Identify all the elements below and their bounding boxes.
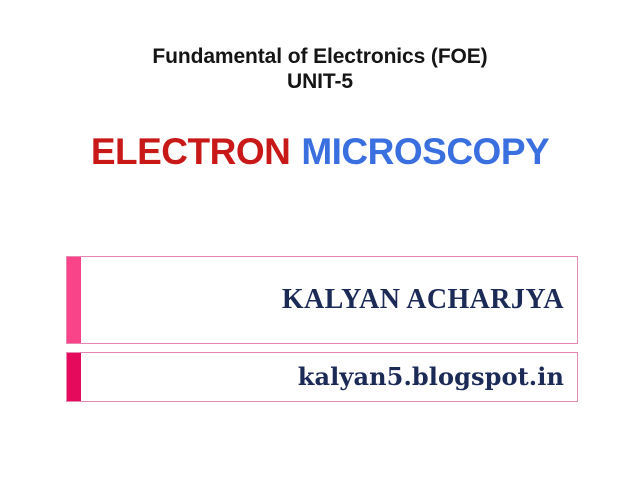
course-title-line-2: UNIT-5 [0, 69, 640, 94]
blog-panel-accent-bar [67, 353, 81, 401]
course-title: Fundamental of Electronics (FOE) UNIT-5 [0, 44, 640, 94]
presenter-name-panel: KALYAN ACHARJYA [66, 256, 578, 344]
presenter-panel-accent-bar [67, 257, 81, 343]
blog-url-text[interactable]: kalyan5.blogspot.in [298, 363, 564, 391]
page-title: ELECTRONMICROSCOPY [0, 131, 640, 173]
presenter-name-text: KALYAN ACHARJYA [282, 284, 564, 316]
presentation-slide: Fundamental of Electronics (FOE) UNIT-5 … [0, 0, 640, 480]
presenter-panel-body: KALYAN ACHARJYA [81, 257, 577, 343]
page-title-word-microscopy: MICROSCOPY [301, 131, 549, 172]
blog-panel-body: kalyan5.blogspot.in [81, 353, 577, 401]
blog-url-panel: kalyan5.blogspot.in [66, 352, 578, 402]
course-title-line-1: Fundamental of Electronics (FOE) [152, 45, 487, 68]
page-title-word-electron: ELECTRON [91, 131, 291, 172]
